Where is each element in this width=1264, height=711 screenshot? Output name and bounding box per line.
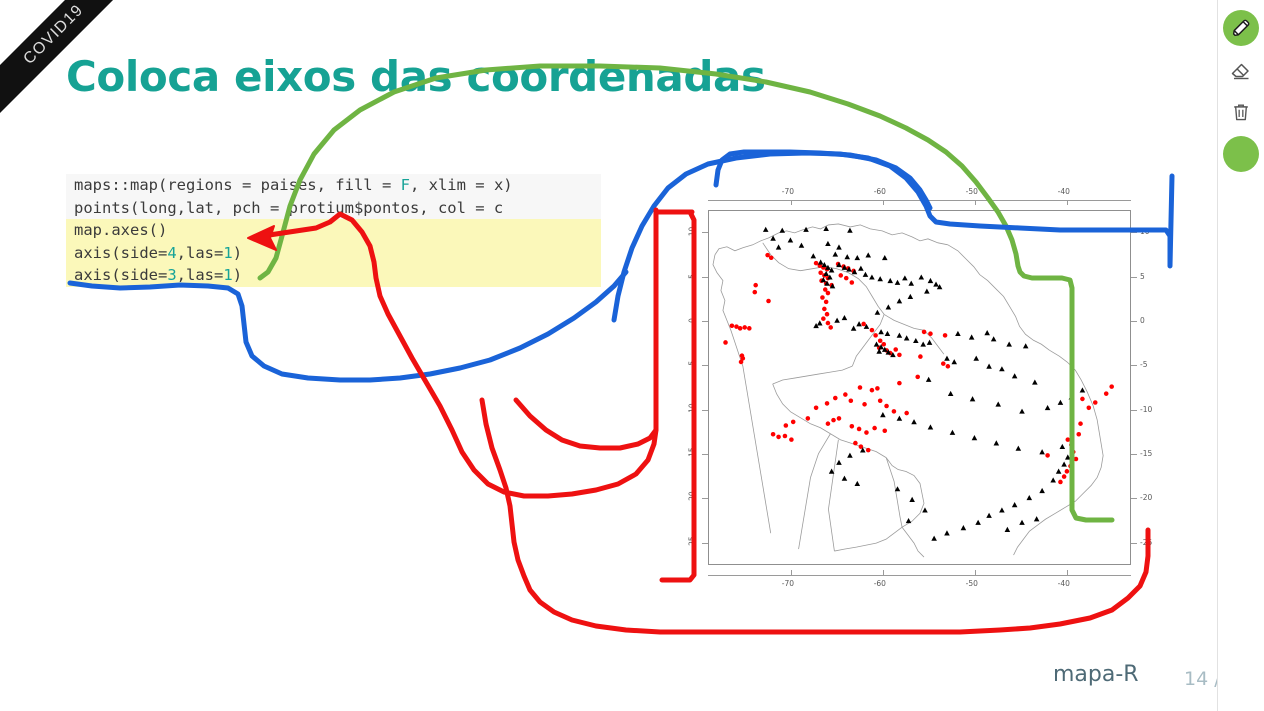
tick-top	[791, 200, 792, 205]
tick-label-top: -50	[966, 187, 978, 196]
tick-label-top: -70	[782, 187, 794, 196]
data-point	[825, 312, 830, 317]
tick-left	[702, 498, 708, 499]
annotation-toolbar	[1217, 0, 1264, 711]
data-point	[763, 227, 769, 232]
tick-label-bottom: -70	[782, 579, 794, 588]
tick-right	[1131, 232, 1137, 233]
data-point	[1012, 502, 1018, 507]
data-point	[1006, 341, 1012, 346]
data-point	[826, 321, 831, 326]
pencil-icon	[1230, 17, 1252, 39]
data-point	[887, 278, 893, 283]
data-point	[833, 251, 839, 256]
data-point	[856, 321, 862, 326]
data-point	[1026, 495, 1032, 500]
data-point	[926, 377, 932, 382]
tick-label-left: 10	[688, 222, 697, 242]
data-point	[870, 328, 875, 333]
data-point	[944, 530, 950, 535]
data-point	[895, 280, 901, 285]
data-point	[825, 401, 830, 406]
data-point	[821, 316, 826, 321]
data-point	[833, 396, 838, 401]
code-line-4: axis(side=4,las=1)	[66, 242, 601, 265]
data-point	[878, 338, 883, 343]
tick-top	[1067, 200, 1068, 205]
data-point	[922, 507, 928, 512]
blue-underline-path	[70, 272, 626, 380]
data-point	[771, 432, 776, 437]
data-point	[920, 341, 926, 346]
data-point	[799, 243, 805, 248]
covid-ribbon: COVID19	[0, 0, 120, 120]
tick-right	[1131, 365, 1137, 366]
data-point	[723, 340, 728, 345]
data-point	[849, 398, 854, 403]
tick-bottom	[791, 570, 792, 575]
data-point	[986, 364, 992, 369]
data-point	[776, 244, 782, 249]
deck-name: mapa-R	[1053, 662, 1139, 687]
data-point	[791, 420, 796, 425]
data-point	[928, 278, 934, 283]
tick-label-right: 0	[1140, 316, 1145, 325]
tick-bottom	[883, 570, 884, 575]
data-point	[919, 274, 925, 279]
data-point	[909, 497, 915, 502]
data-point	[1034, 516, 1040, 521]
ribbon-label: COVID19	[20, 1, 87, 68]
data-point	[783, 434, 788, 439]
data-point	[1093, 400, 1098, 405]
data-point	[836, 244, 842, 249]
data-point	[994, 440, 1000, 445]
data-point	[986, 513, 992, 518]
tick-top	[883, 200, 884, 205]
data-point	[1074, 457, 1079, 462]
data-point	[870, 388, 875, 393]
tick-label-right: -25	[1140, 538, 1152, 547]
tick-label-bottom: -40	[1058, 579, 1070, 588]
data-point	[769, 255, 774, 260]
data-point	[1058, 400, 1064, 405]
data-point	[730, 323, 735, 328]
data-point	[897, 333, 903, 338]
data-point	[857, 427, 862, 432]
data-point	[1050, 477, 1056, 482]
eraser-icon	[1229, 58, 1253, 82]
data-point	[897, 353, 902, 358]
data-point	[1062, 474, 1067, 479]
data-point	[863, 272, 869, 277]
tick-label-left: 0	[688, 310, 697, 330]
data-point	[858, 266, 864, 271]
data-point	[747, 326, 752, 331]
data-point	[1019, 520, 1025, 525]
tick-right	[1131, 543, 1137, 544]
tick-label-left: -10	[688, 399, 697, 419]
data-point	[961, 525, 967, 530]
tick-label-left: -15	[688, 444, 697, 464]
data-point	[908, 281, 914, 286]
data-point	[999, 507, 1005, 512]
data-point	[843, 392, 848, 397]
data-point	[908, 294, 914, 299]
data-point	[1069, 394, 1075, 399]
data-point	[1005, 527, 1011, 532]
tick-left	[702, 321, 708, 322]
data-point	[753, 283, 758, 288]
data-point	[946, 364, 951, 369]
data-point	[972, 435, 978, 440]
black-points-layer	[763, 226, 1085, 541]
data-point	[844, 254, 850, 259]
tick-label-left: -5	[688, 355, 697, 375]
data-point	[850, 424, 855, 429]
data-point	[1071, 450, 1076, 455]
data-point	[842, 476, 848, 481]
data-point	[831, 418, 836, 423]
data-point	[858, 385, 863, 390]
data-point	[828, 325, 833, 330]
tick-top	[975, 200, 976, 205]
tick-label-right: -20	[1140, 493, 1152, 502]
data-point	[904, 411, 909, 416]
data-point	[1019, 409, 1025, 414]
data-point	[884, 404, 889, 409]
data-point	[1080, 397, 1085, 402]
data-point	[999, 366, 1005, 371]
data-point	[1012, 373, 1018, 378]
data-point	[881, 342, 886, 347]
data-point	[814, 405, 819, 410]
data-point	[1078, 421, 1083, 426]
data-point	[943, 333, 948, 338]
data-point	[973, 356, 979, 361]
data-point	[1080, 387, 1086, 392]
data-point	[911, 419, 917, 424]
data-point	[975, 520, 981, 525]
data-point	[1109, 384, 1114, 389]
data-point	[1058, 480, 1063, 485]
data-point	[944, 356, 950, 361]
data-point	[826, 421, 831, 426]
data-point	[933, 282, 939, 287]
data-point	[948, 391, 954, 396]
data-point	[924, 289, 930, 294]
tick-label-right: 10	[1140, 227, 1150, 236]
data-point	[1039, 488, 1045, 493]
data-point	[866, 448, 871, 453]
data-point	[847, 453, 853, 458]
data-point	[806, 416, 811, 421]
tick-left	[702, 365, 708, 366]
data-point	[842, 315, 848, 320]
tick-bottom	[975, 570, 976, 575]
data-point	[1065, 469, 1070, 474]
data-point	[766, 299, 771, 304]
code-line-1: maps::map(regions = paises, fill = F, xl…	[66, 174, 601, 197]
data-point	[897, 381, 902, 386]
data-point	[941, 361, 946, 366]
data-point	[928, 331, 933, 336]
data-point	[738, 326, 743, 331]
data-point	[865, 252, 871, 257]
data-point	[1045, 405, 1051, 410]
data-point	[915, 375, 920, 380]
data-point	[739, 360, 744, 365]
tick-left	[702, 277, 708, 278]
data-point	[824, 300, 829, 305]
data-point	[906, 518, 912, 523]
data-point	[969, 334, 975, 339]
data-point	[752, 290, 757, 295]
data-point	[826, 291, 831, 296]
tick-right	[1131, 498, 1137, 499]
data-point	[995, 402, 1001, 407]
red-left-tail	[516, 400, 656, 448]
data-point	[892, 409, 897, 414]
tick-left	[702, 410, 708, 411]
data-point	[897, 416, 903, 421]
data-point	[811, 253, 817, 258]
data-point	[784, 423, 789, 428]
data-point	[1016, 446, 1022, 451]
data-point	[823, 226, 829, 231]
eraser-tool-button[interactable]	[1223, 52, 1259, 88]
data-point	[984, 330, 990, 335]
data-point	[851, 326, 857, 331]
trash-icon	[1230, 101, 1252, 123]
data-point	[834, 318, 840, 323]
data-point	[955, 331, 961, 336]
data-point	[1032, 379, 1038, 384]
data-point	[991, 336, 997, 341]
color-swatch-green[interactable]	[1223, 136, 1259, 172]
data-point	[1066, 437, 1071, 442]
data-point	[882, 428, 887, 433]
data-point	[776, 435, 781, 440]
data-point	[922, 330, 927, 335]
data-point	[838, 273, 843, 278]
tick-right	[1131, 410, 1137, 411]
data-point	[1076, 432, 1081, 437]
data-point	[1069, 443, 1074, 448]
code-line-2: points(long,lat, pch = protium$pontos, c…	[66, 197, 601, 220]
data-point	[818, 259, 824, 264]
data-point	[861, 322, 866, 327]
data-point	[814, 261, 819, 266]
data-point	[928, 424, 934, 429]
data-point	[820, 295, 825, 300]
pen-tool-button[interactable]	[1223, 10, 1259, 46]
red-points-layer	[723, 253, 1114, 484]
data-point	[855, 481, 861, 486]
tick-label-top: -60	[874, 187, 886, 196]
data-point	[951, 359, 957, 364]
tick-label-right: 5	[1140, 272, 1145, 281]
data-point	[877, 276, 883, 281]
tick-label-left: 5	[688, 266, 697, 286]
tick-left	[702, 232, 708, 233]
tick-bottom	[1067, 570, 1068, 575]
tick-right	[1131, 277, 1137, 278]
data-point	[850, 280, 855, 285]
slide-canvas: COVID19 Coloca eixos das coordenadas map…	[0, 0, 1264, 711]
data-point	[873, 333, 878, 338]
data-point	[1061, 461, 1067, 466]
tick-left	[702, 543, 708, 544]
data-point	[788, 237, 794, 242]
data-point	[779, 228, 785, 233]
data-point	[1087, 405, 1092, 410]
data-point	[869, 274, 875, 279]
data-point	[1065, 454, 1071, 459]
data-point	[825, 241, 831, 246]
data-point	[853, 441, 858, 446]
data-point	[918, 354, 923, 359]
data-point	[878, 398, 883, 403]
data-point	[880, 412, 886, 417]
r-plot-output: -70-60-50-40-70-60-50-401050-5-10-15-20-…	[672, 196, 1167, 583]
data-point	[970, 396, 976, 401]
data-point	[931, 536, 937, 541]
data-point	[875, 310, 881, 315]
data-point	[1045, 453, 1050, 458]
data-point	[1068, 464, 1073, 469]
data-point	[885, 331, 891, 336]
data-point	[862, 402, 867, 407]
data-point	[847, 228, 853, 233]
tick-label-right: -5	[1140, 360, 1147, 369]
code-block: maps::map(regions = paises, fill = F, xl…	[66, 174, 601, 287]
data-point	[1104, 391, 1109, 396]
page-title: Coloca eixos das coordenadas	[66, 52, 766, 101]
data-point	[897, 298, 903, 303]
data-point	[817, 320, 823, 325]
tick-left	[702, 454, 708, 455]
clear-all-button[interactable]	[1223, 94, 1259, 130]
data-point	[875, 386, 880, 391]
data-point	[904, 335, 910, 340]
data-point	[742, 325, 747, 330]
data-point	[886, 304, 892, 309]
data-point	[822, 307, 827, 312]
tick-label-left: -20	[688, 488, 697, 508]
plot-frame	[708, 210, 1131, 565]
tick-right	[1131, 454, 1137, 455]
tick-label-right: -10	[1140, 405, 1152, 414]
data-point	[878, 329, 884, 334]
data-point	[1056, 469, 1062, 474]
south-america-map	[709, 211, 1130, 564]
tick-label-left: -25	[688, 532, 697, 552]
tick-label-right: -15	[1140, 449, 1152, 458]
data-point	[1060, 444, 1066, 449]
tick-label-bottom: -50	[966, 579, 978, 588]
data-point	[836, 460, 842, 465]
data-point	[837, 416, 842, 421]
data-point	[882, 255, 888, 260]
code-line-3: map.axes()	[66, 219, 601, 242]
data-point	[872, 426, 877, 431]
data-point	[902, 275, 908, 280]
data-point	[893, 347, 898, 352]
data-point	[789, 437, 794, 442]
tick-label-bottom: -60	[874, 579, 886, 588]
data-point	[913, 338, 919, 343]
data-point	[844, 276, 849, 281]
data-point	[927, 340, 933, 345]
data-point	[818, 270, 823, 275]
tick-right	[1131, 321, 1137, 322]
tick-label-top: -40	[1058, 187, 1070, 196]
data-point	[1039, 449, 1045, 454]
code-line-5: axis(side=3,las=1)	[66, 264, 601, 287]
data-point	[1023, 343, 1029, 348]
data-point	[864, 430, 869, 435]
data-point	[950, 430, 956, 435]
data-point	[855, 255, 861, 260]
